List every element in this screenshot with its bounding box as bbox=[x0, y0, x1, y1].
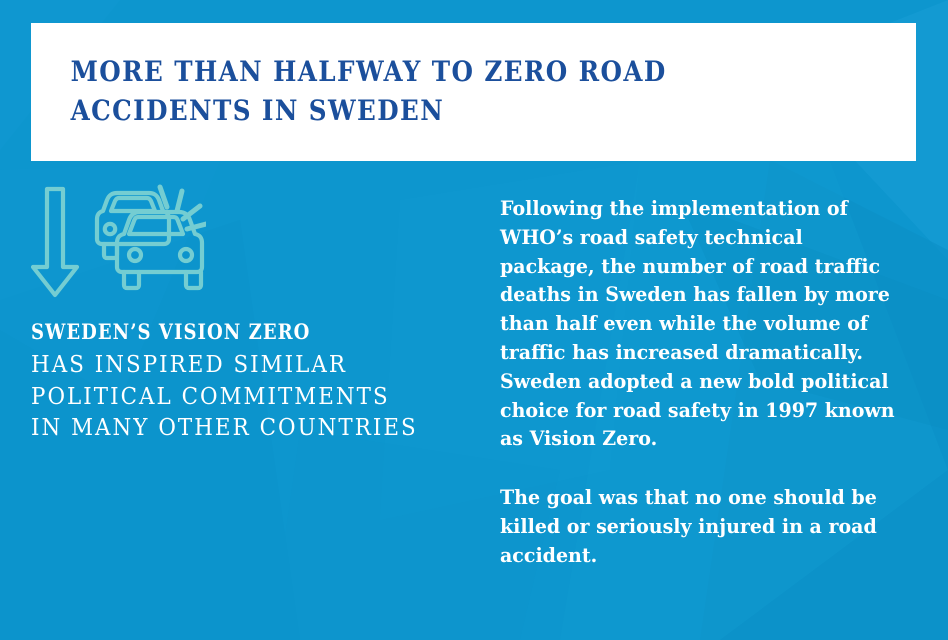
road-accident-decline-icon bbox=[31, 181, 206, 301]
title-panel: MORE THAN HALFWAY TO ZERO ROAD ACCIDENTS… bbox=[31, 23, 916, 161]
vision-zero-heading: SWEDEN’S VISION ZERO bbox=[31, 319, 409, 344]
left-text-block: SWEDEN’S VISION ZERO HAS INSPIRED SIMILA… bbox=[31, 319, 471, 445]
left-column: SWEDEN’S VISION ZERO HAS INSPIRED SIMILA… bbox=[31, 181, 471, 445]
vision-zero-subheading: HAS INSPIRED SIMILAR POLITICAL COMMITMEN… bbox=[31, 350, 440, 445]
car-front-icon bbox=[117, 212, 202, 288]
right-column: Following the implementation of WHO’s ro… bbox=[500, 194, 925, 570]
content-area: SWEDEN’S VISION ZERO HAS INSPIRED SIMILA… bbox=[0, 161, 948, 640]
page-title: MORE THAN HALFWAY TO ZERO ROAD ACCIDENTS… bbox=[31, 53, 693, 130]
body-paragraph-1: Following the implementation of WHO’s ro… bbox=[500, 194, 904, 453]
down-arrow-icon bbox=[33, 189, 77, 295]
body-paragraph-2: The goal was that no one should be kille… bbox=[500, 483, 904, 569]
